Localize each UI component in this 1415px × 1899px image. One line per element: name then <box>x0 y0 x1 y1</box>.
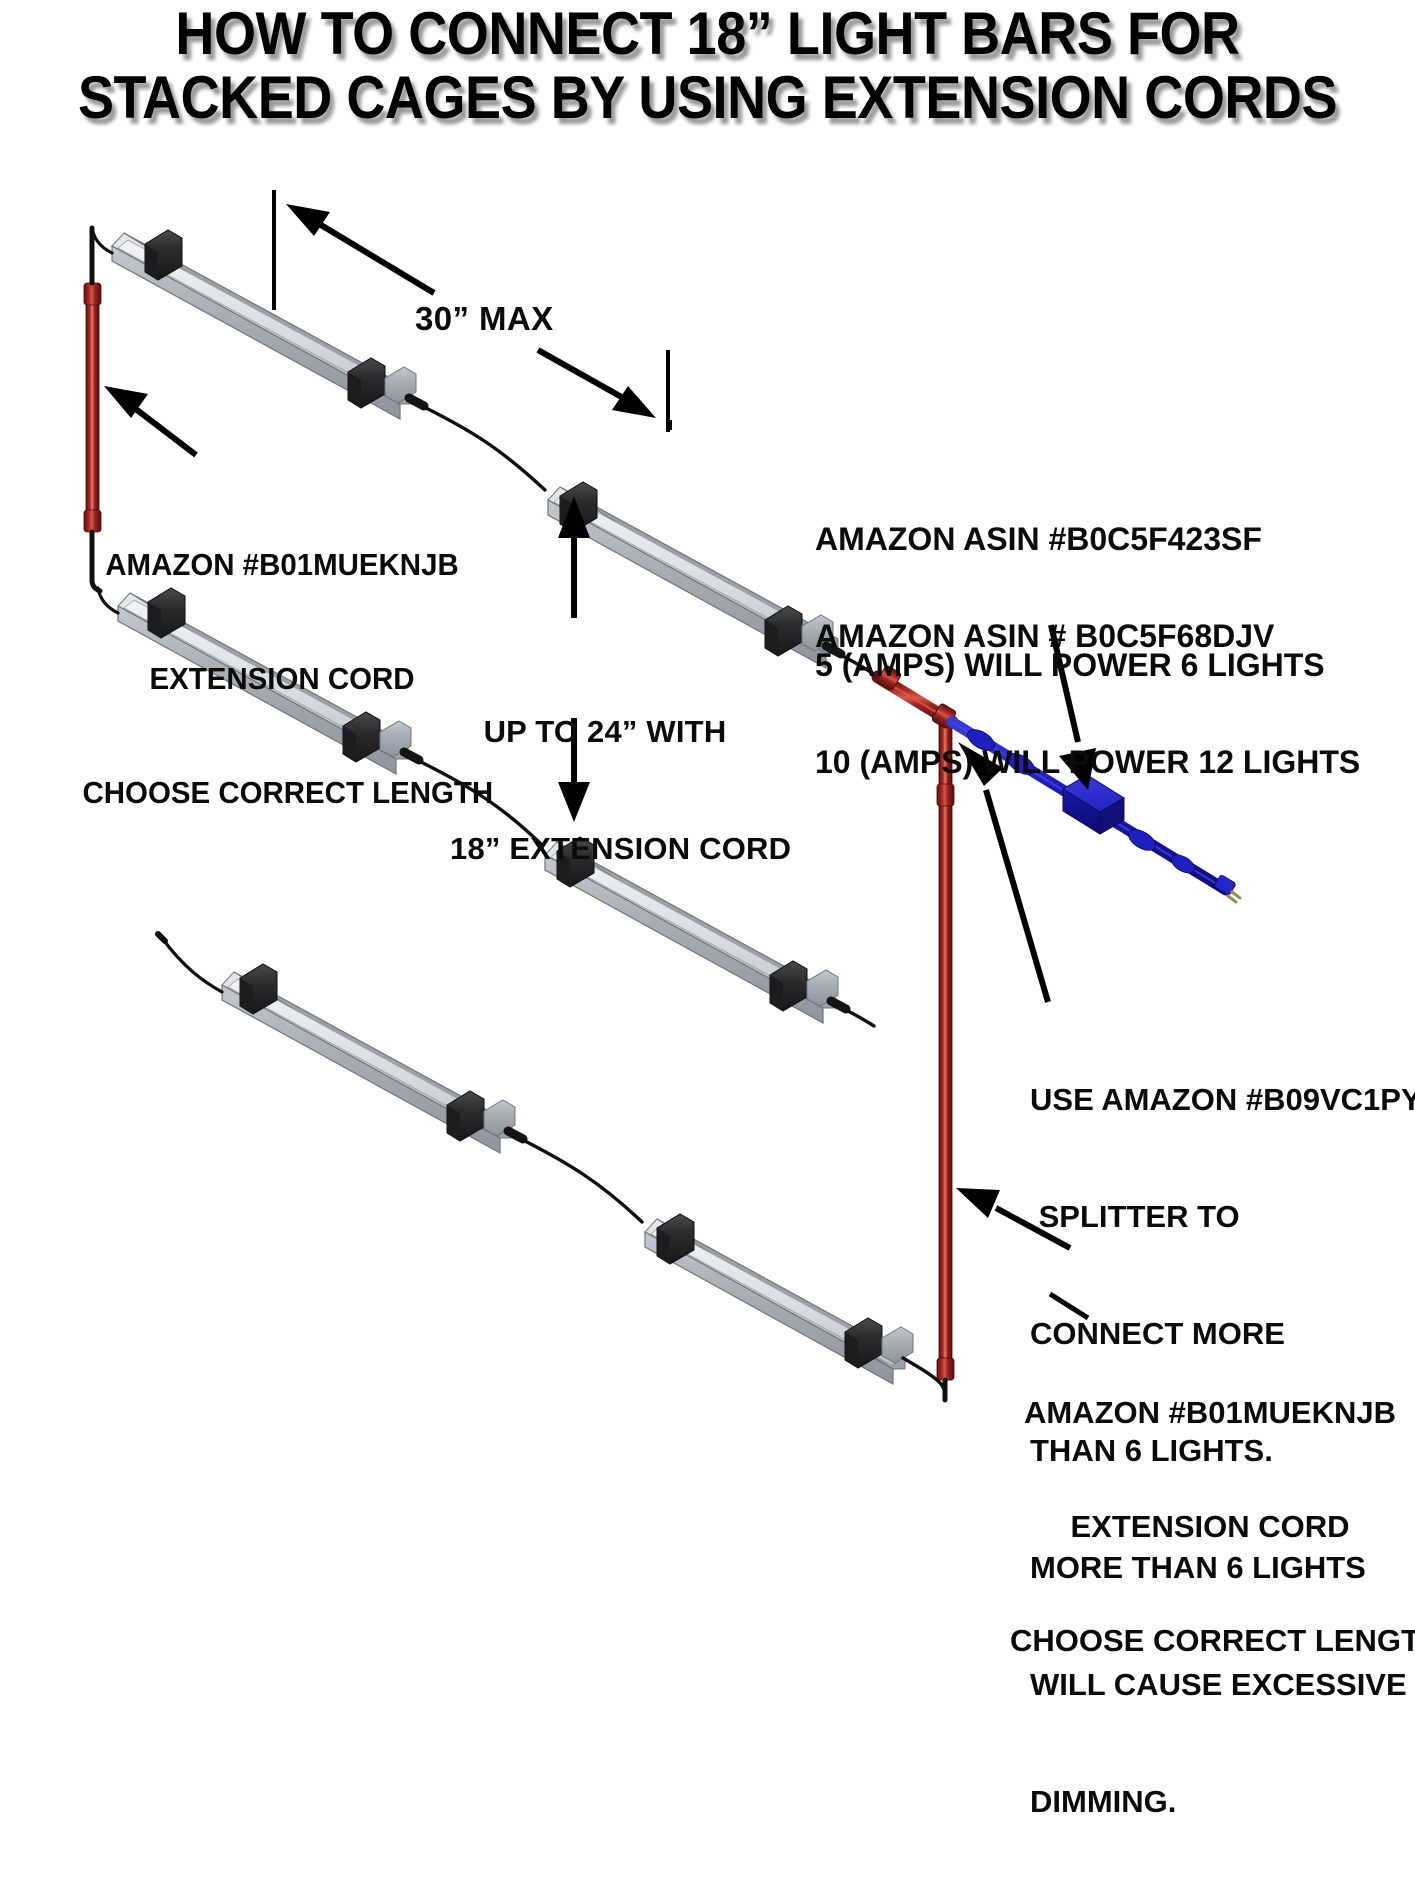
callout-max-spacing: 30” MAX <box>415 300 554 338</box>
callout-left-extension-cord: AMAZON #B01MUEKNJB EXTENSION CORD CHOOSE… <box>72 470 492 888</box>
callout-left-extension-cord-line1: AMAZON #B01MUEKNJB <box>83 546 482 584</box>
callout-left-extension-cord-line2: EXTENSION CORD <box>83 660 482 698</box>
leader-left-extension-cord <box>104 386 196 455</box>
callout-bottom-extension-cord-line1: AMAZON #B01MUEKNJB <box>1010 1394 1410 1432</box>
callout-power-supply-10a-line2: 10 (AMPS) WILL POWER 12 LIGHTS <box>815 741 1360 783</box>
callout-splitter-line7: DIMMING. <box>1030 1782 1415 1821</box>
callout-up-to-24-line2: 18” EXTENSION CORD <box>450 829 760 868</box>
callout-splitter-line1: USE AMAZON #B09VC1PYXQ <box>1030 1080 1415 1119</box>
light-bar-top <box>92 228 545 490</box>
callout-bottom-extension-cord-line2: EXTENSION CORD <box>1010 1508 1410 1546</box>
light-bar-bottom-right <box>645 1214 945 1396</box>
callout-up-to-24-line1: UP TO 24” WITH <box>450 712 760 751</box>
light-bar-bottom <box>158 934 642 1222</box>
callout-bottom-extension-cord: AMAZON #B01MUEKNJB EXTENSION CORD CHOOSE… <box>1010 1318 1410 1736</box>
callout-left-extension-cord-line3: CHOOSE CORRECT LENGTH <box>83 774 482 812</box>
callout-power-supply-10a-line1: AMAZON ASIN # B0C5F68DJV <box>815 615 1360 657</box>
diagram-canvas: HOW TO CONNECT 18” LIGHT BARS FOR STACKE… <box>0 0 1415 1418</box>
callout-up-to-24: UP TO 24” WITH 18” EXTENSION CORD <box>450 634 760 946</box>
callout-bottom-extension-cord-line3: CHOOSE CORRECT LENGTH <box>1010 1622 1410 1660</box>
callout-power-supply-10a: AMAZON ASIN # B0C5F68DJV 10 (AMPS) WILL … <box>815 531 1360 867</box>
callout-splitter-line2: SPLITTER TO <box>1030 1197 1415 1236</box>
